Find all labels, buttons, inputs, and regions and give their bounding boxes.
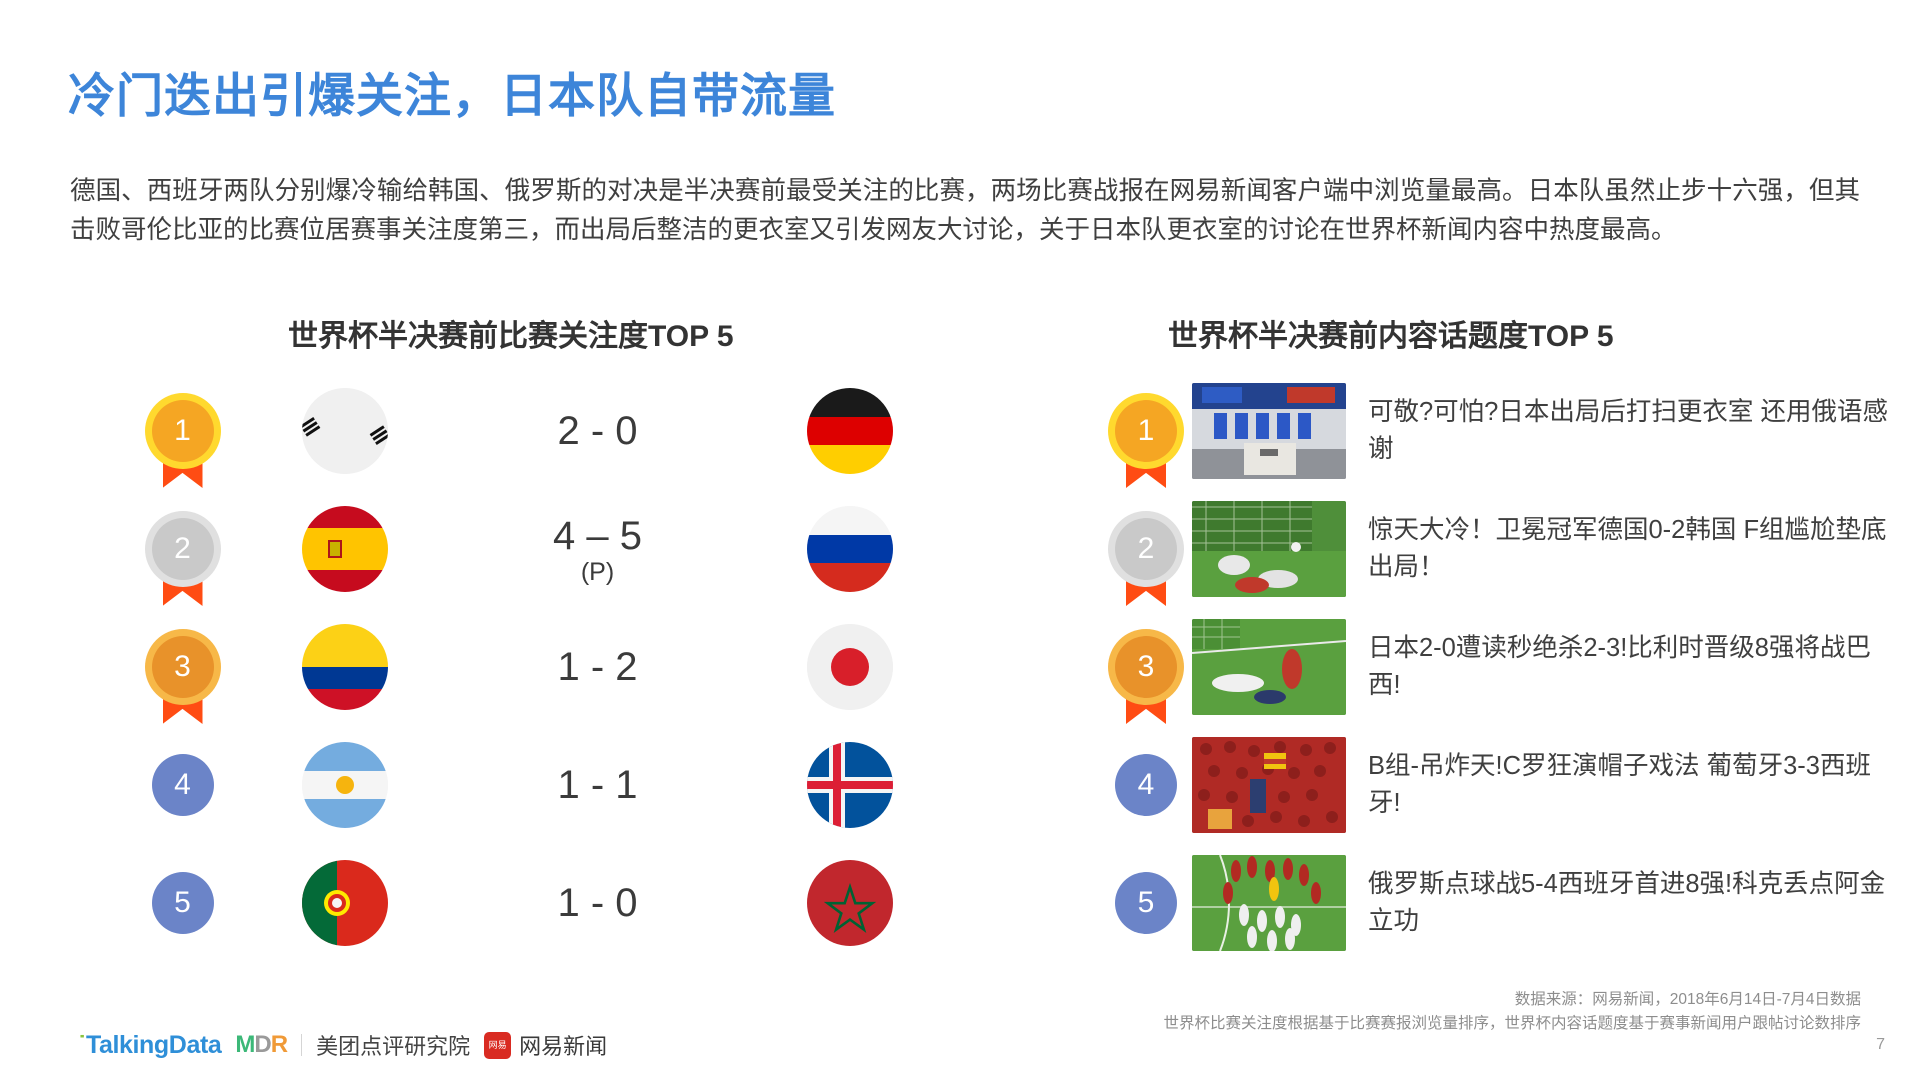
news-title[interactable]: 日本2-0遭读秒绝杀2-3!比利时晋级8强将战巴西! (1368, 630, 1890, 704)
rank-circle: 4 (1115, 754, 1177, 816)
news-row[interactable]: 2 惊天大冷！卫冕冠军德国0-2韩国 F组 (1100, 490, 1890, 608)
rank-cell: 1 (120, 400, 245, 462)
match-row: 2 4 – 5 (P) (120, 490, 950, 608)
away-flag-cell (750, 388, 950, 474)
flag-morocco-icon (807, 860, 893, 946)
news-title[interactable]: 惊天大冷！卫冕冠军德国0-2韩国 F组尴尬垫底出局！ (1368, 512, 1890, 586)
news-row[interactable]: 4 B组-吊炸天!C罗狂演帽子戏法 葡萄牙3-3西班牙! (1100, 726, 1890, 844)
news-row[interactable]: 1 可敬?可怕?日本出局后打扫更衣室 还用俄语感谢 (1100, 372, 1890, 490)
slide-page: 冷门迭出引爆关注，日本队自带流量 德国、西班牙两队分别爆冷输给韩国、俄罗斯的对决… (0, 0, 1921, 1080)
score-value: 1 - 2 (557, 645, 637, 689)
rank-number: 1 (1115, 400, 1177, 462)
rank-number: 2 (152, 518, 214, 580)
footer-logos: ˙TalkingData MDR 美团点评研究院 网易 网易新闻 (78, 1029, 607, 1061)
home-flag-cell (245, 860, 445, 946)
rank-number: 2 (1115, 518, 1177, 580)
page-title: 冷门迭出引爆关注，日本队自带流量 (68, 57, 836, 126)
score-cell: 1 - 2 (445, 644, 750, 690)
news-thumbnail[interactable] (1192, 855, 1346, 951)
left-section-title: 世界杯半决赛前比赛关注度TOP 5 (288, 311, 734, 355)
home-flag-cell (245, 742, 445, 828)
medal-badge-icon: 3 (1115, 636, 1177, 698)
score-value: 4 – 5 (553, 514, 642, 558)
match-row: 4 1 - 1 (120, 726, 950, 844)
netease-logo-text: 网易新闻 (519, 1029, 607, 1061)
rank-circle: 5 (1115, 872, 1177, 934)
home-flag-cell (245, 506, 445, 592)
flag-iceland-icon (807, 742, 893, 828)
rank-cell: 2 (120, 518, 245, 580)
flag-south-korea-icon (302, 388, 388, 474)
talkingdata-logo-text: TalkingData (86, 1031, 221, 1059)
flag-japan-icon (807, 624, 893, 710)
rank-cell: 3 (1100, 636, 1192, 698)
rank-cell: 2 (1100, 518, 1192, 580)
score-value: 2 - 0 (557, 409, 637, 453)
rank-cell: 5 (120, 872, 245, 934)
news-list: 1 可敬?可怕?日本出局后打扫更衣室 还用俄语感谢 (1100, 372, 1890, 962)
news-thumbnail[interactable] (1192, 737, 1346, 833)
score-value: 1 - 1 (557, 763, 637, 807)
flag-russia-icon (807, 506, 893, 592)
intro-paragraph: 德国、西班牙两队分别爆冷输给韩国、俄罗斯的对决是半决赛前最受关注的比赛，两场比赛… (70, 172, 1860, 250)
score-sub: (P) (445, 559, 750, 585)
news-title[interactable]: 俄罗斯点球战5-4西班牙首进8强!科克丢点阿金立功 (1368, 866, 1890, 940)
source-line-2: 世界杯比赛关注度根据基于比赛赛报浏览量排序，世界杯内容话题度基于赛事新闻用户跟帖… (1163, 1012, 1861, 1036)
news-thumbnail[interactable] (1192, 383, 1346, 479)
score-value: 1 - 0 (557, 881, 637, 925)
medal-badge-icon: 1 (1115, 400, 1177, 462)
home-flag-cell (245, 388, 445, 474)
rank-number: 3 (1115, 636, 1177, 698)
right-section-title: 世界杯半决赛前内容话题度TOP 5 (1168, 311, 1614, 355)
matches-list: 1 2 - 0 (120, 372, 950, 962)
away-flag-cell (750, 742, 950, 828)
news-row[interactable]: 5 俄罗斯点球战5-4西班牙首 (1100, 844, 1890, 962)
score-cell: 2 - 0 (445, 408, 750, 454)
away-flag-cell (750, 624, 950, 710)
rank-cell: 3 (120, 636, 245, 698)
medal-badge-icon: 1 (152, 400, 214, 462)
news-thumbnail[interactable] (1192, 619, 1346, 715)
score-cell: 1 - 1 (445, 762, 750, 808)
flag-colombia-icon (302, 624, 388, 710)
netease-mark-top: 网易 (489, 1040, 507, 1050)
source-line-1: 数据来源：网易新闻，2018年6月14日-7月4日数据 (1163, 988, 1861, 1012)
meituan-research-logo: 美团点评研究院 (316, 1029, 470, 1061)
mdr-logo: MDR (235, 1031, 287, 1059)
flag-spain-icon (302, 506, 388, 592)
away-flag-cell (750, 506, 950, 592)
match-row: 3 1 - 2 (120, 608, 950, 726)
netease-mark-icon: 网易 (484, 1032, 511, 1059)
rank-cell: 4 (120, 754, 245, 816)
talkingdata-logo: ˙TalkingData (78, 1031, 221, 1060)
medal-badge-icon: 3 (152, 636, 214, 698)
netease-logo: 网易 网易新闻 (484, 1029, 607, 1061)
score-cell: 4 – 5 (P) (445, 513, 750, 585)
match-row: 1 2 - 0 (120, 372, 950, 490)
medal-badge-icon: 2 (152, 518, 214, 580)
flag-argentina-icon (302, 742, 388, 828)
rank-number: 3 (152, 636, 214, 698)
score-cell: 1 - 0 (445, 880, 750, 926)
flag-germany-icon (807, 388, 893, 474)
page-number: 7 (1876, 1036, 1885, 1054)
home-flag-cell (245, 624, 445, 710)
news-row[interactable]: 3 日本2-0遭读秒绝杀2-3!比利时晋级8强将战巴西! (1100, 608, 1890, 726)
rank-cell: 4 (1100, 754, 1192, 816)
source-note: 数据来源：网易新闻，2018年6月14日-7月4日数据 世界杯比赛关注度根据基于… (1163, 988, 1861, 1036)
medal-badge-icon: 2 (1115, 518, 1177, 580)
rank-circle: 5 (152, 872, 214, 934)
flag-portugal-icon (302, 860, 388, 946)
logo-divider (301, 1034, 302, 1056)
rank-cell: 1 (1100, 400, 1192, 462)
rank-circle: 4 (152, 754, 214, 816)
news-thumbnail[interactable] (1192, 501, 1346, 597)
news-title[interactable]: B组-吊炸天!C罗狂演帽子戏法 葡萄牙3-3西班牙! (1368, 748, 1890, 822)
news-title[interactable]: 可敬?可怕?日本出局后打扫更衣室 还用俄语感谢 (1368, 394, 1890, 468)
rank-number: 1 (152, 400, 214, 462)
rank-cell: 5 (1100, 872, 1192, 934)
away-flag-cell (750, 860, 950, 946)
match-row: 5 1 - 0 (120, 844, 950, 962)
